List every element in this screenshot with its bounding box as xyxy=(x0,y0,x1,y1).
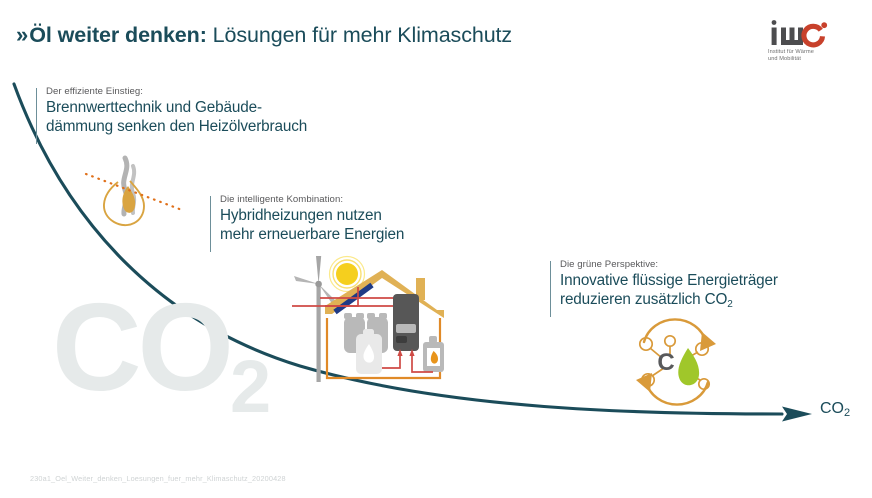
block2-kicker: Die intelligente Kombination: xyxy=(220,194,343,205)
footer-filename: 230a1_Oel_Weiter_denken_Loesungen_fuer_m… xyxy=(30,474,286,483)
block1-kicker: Der effiziente Einstieg: xyxy=(46,86,143,97)
block3-headline-subscript: 2 xyxy=(727,299,732,310)
block1-headline-line1: Brennwerttechnik und Gebäude- xyxy=(46,98,307,117)
carbon-letter-label: C xyxy=(657,349,674,376)
hybrid-house-icon xyxy=(292,256,480,390)
block1-headline-line2: dämmung senken den Heizölverbrauch xyxy=(46,117,307,136)
co2-watermark: CO2 xyxy=(52,286,269,427)
block3-headline: Innovative flüssige Energieträger reduzi… xyxy=(560,271,778,311)
wind-turbine-icon xyxy=(294,256,337,382)
block3-headline-line2: reduzieren zusätzlich CO2 xyxy=(560,290,778,311)
boiler-icon xyxy=(393,294,419,351)
carbon-cycle-drop-icon: C xyxy=(622,322,732,404)
block2-headline-line1: Hybridheizungen nutzen xyxy=(220,206,404,225)
block-accent-rule xyxy=(36,88,37,144)
infographic-canvas: »Öl weiter denken: Lösungen für mehr Kli… xyxy=(0,0,872,498)
curve-end-label: CO2 xyxy=(820,400,850,418)
flame-with-smoke-icon xyxy=(78,152,196,247)
arrow-head-icon xyxy=(782,407,812,422)
block3-kicker: Die grüne Perspektive: xyxy=(560,259,658,270)
block3-headline-line1: Innovative flüssige Energieträger xyxy=(560,271,778,290)
block-accent-rule xyxy=(550,261,551,317)
cycle-arrows-icon xyxy=(644,319,708,404)
block1-headline: Brennwerttechnik und Gebäude- dämmung se… xyxy=(46,98,307,136)
block2-headline: Hybridheizungen nutzen mehr erneuerbare … xyxy=(220,206,404,244)
block2-headline-line2: mehr erneuerbare Energien xyxy=(220,225,404,244)
liquid-fuel-tank-icon xyxy=(356,329,382,374)
block-accent-rule xyxy=(210,196,211,252)
